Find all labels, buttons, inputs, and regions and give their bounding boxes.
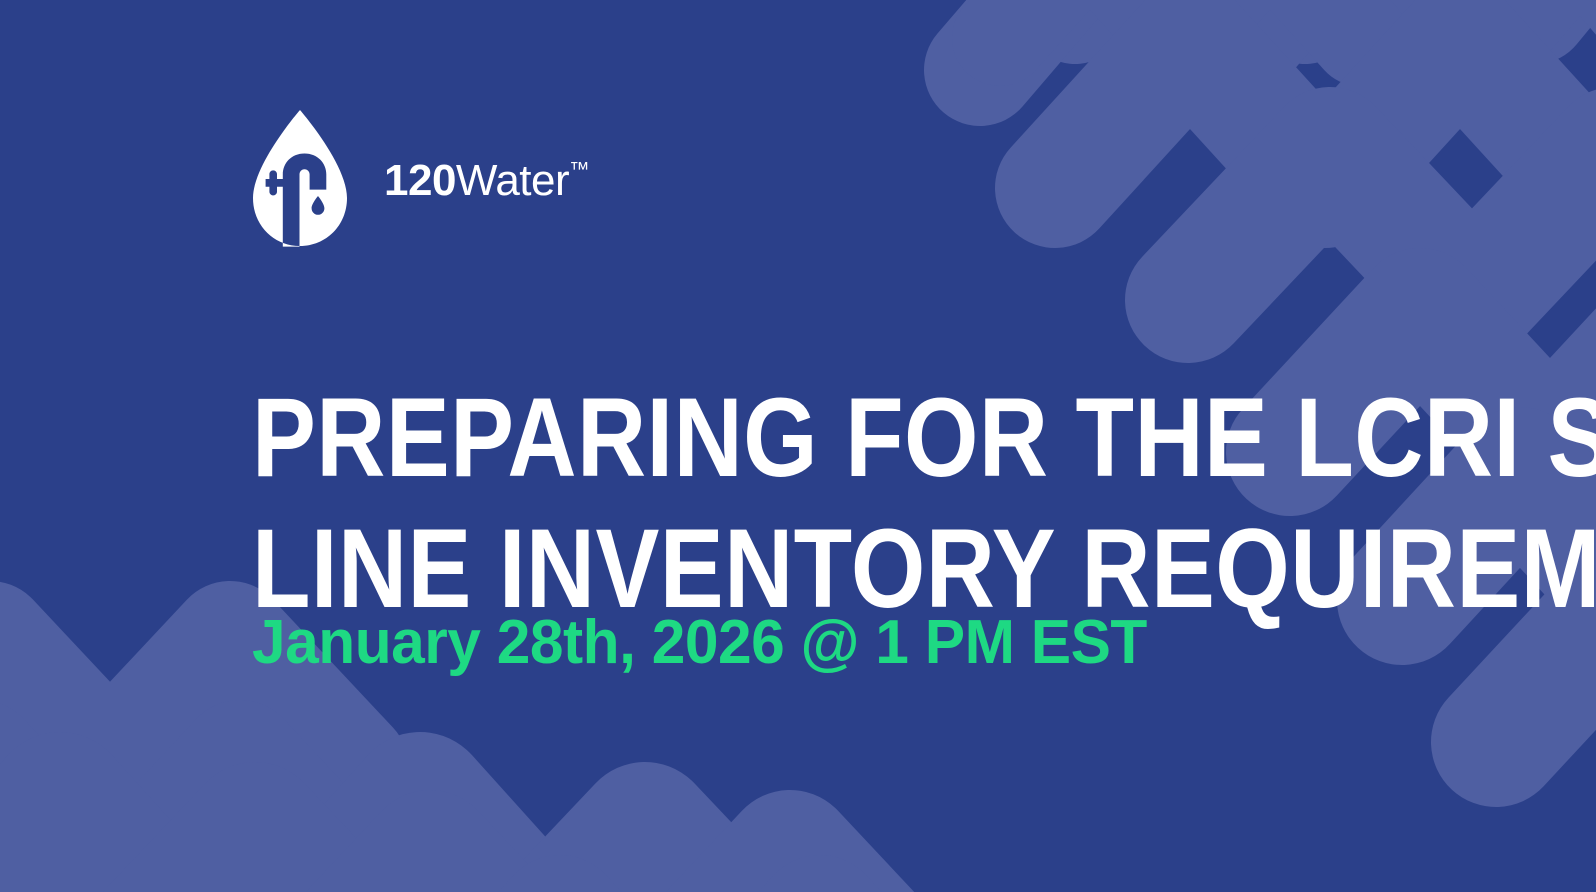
- page-title: Preparing for the LCRI Service Line Inve…: [252, 372, 1261, 634]
- webinar-promo-banner: 120Water™ Preparing for the LCRI Service…: [0, 0, 1596, 892]
- water-droplet-faucet-icon: [252, 108, 348, 248]
- headline-line-1: Preparing for the LCRI Service: [252, 372, 1261, 503]
- brand-logo-lockup[interactable]: 120Water™: [252, 108, 589, 248]
- wordmark-trademark-symbol: ™: [569, 159, 589, 181]
- wordmark-number: 120: [384, 156, 456, 205]
- brand-wordmark: 120Water™: [384, 159, 589, 203]
- event-datetime: January 28th, 2026 @ 1 PM EST: [252, 607, 1147, 679]
- wordmark-word: Water: [456, 156, 569, 205]
